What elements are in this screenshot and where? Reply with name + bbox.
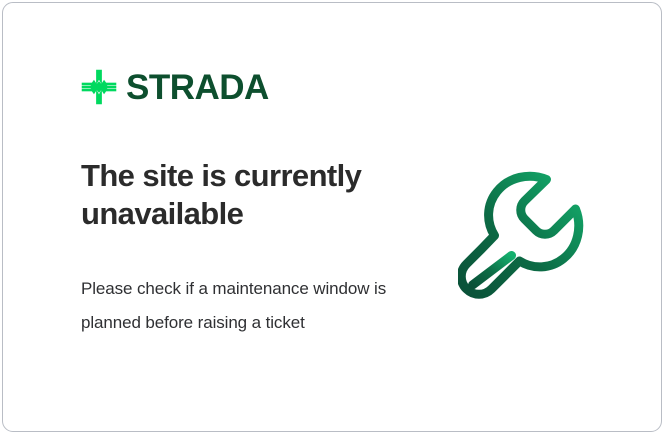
strada-asterisk-icon xyxy=(81,69,117,105)
brand-wordmark: STRADA xyxy=(126,70,269,105)
status-card: STRADA The site is currently unavailable… xyxy=(2,2,662,432)
status-description: Please check if a maintenance window is … xyxy=(81,272,391,340)
page-title: The site is currently unavailable xyxy=(81,157,411,234)
brand-logo: STRADA xyxy=(81,65,431,109)
wrench-icon xyxy=(458,161,618,316)
message-content: STRADA The site is currently unavailable… xyxy=(81,65,431,109)
